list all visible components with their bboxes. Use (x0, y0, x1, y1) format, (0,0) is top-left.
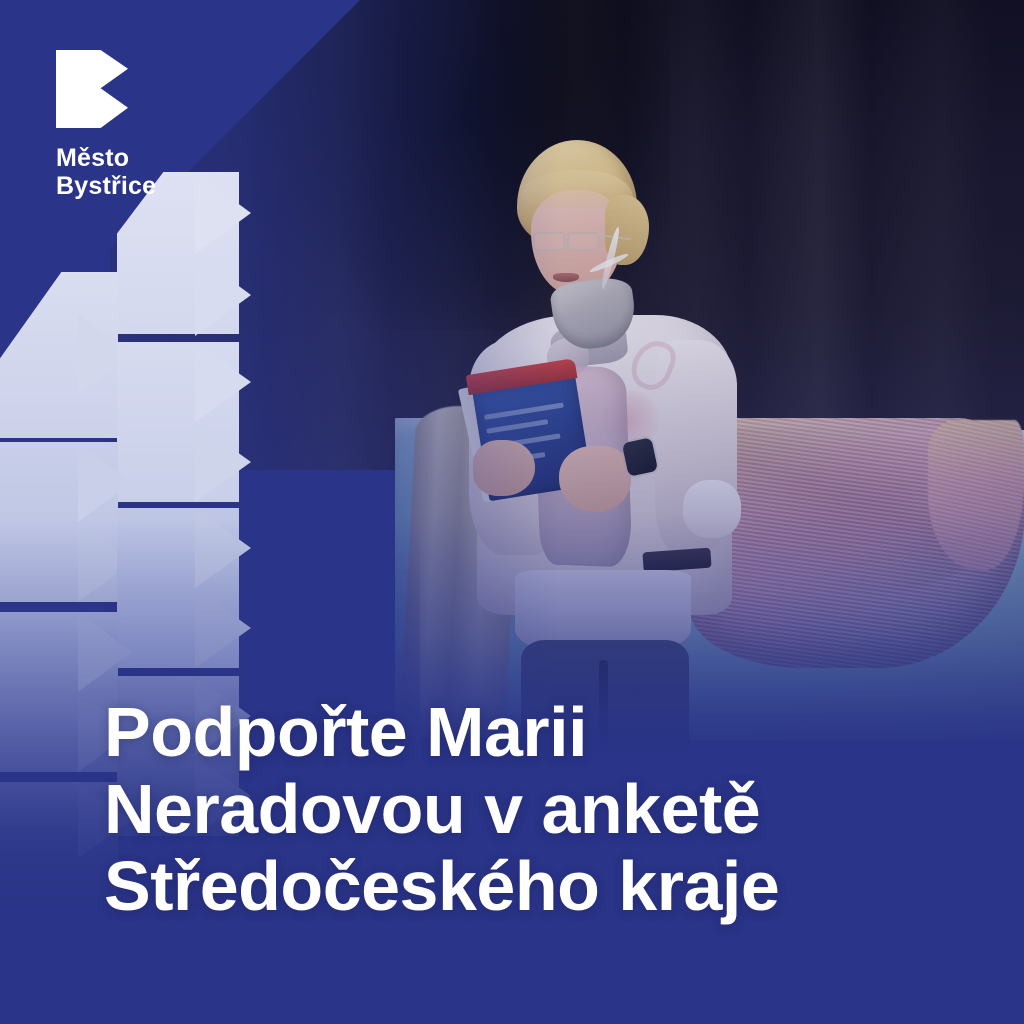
headline-line-1: Podpořte Marii (104, 694, 934, 771)
b-chevron-mark-icon (56, 50, 128, 128)
logo-text: Město Bystřice (56, 144, 256, 200)
social-media-poster: Město Bystřice Podpořte Marii Neradovou … (0, 0, 1024, 1024)
headline-line-3: Středočeského kraje (104, 848, 934, 925)
headline: Podpořte Marii Neradovou v anketě Středo… (104, 694, 934, 925)
logo[interactable]: Město Bystřice (56, 50, 256, 200)
headline-line-2: Neradovou v anketě (104, 771, 934, 848)
